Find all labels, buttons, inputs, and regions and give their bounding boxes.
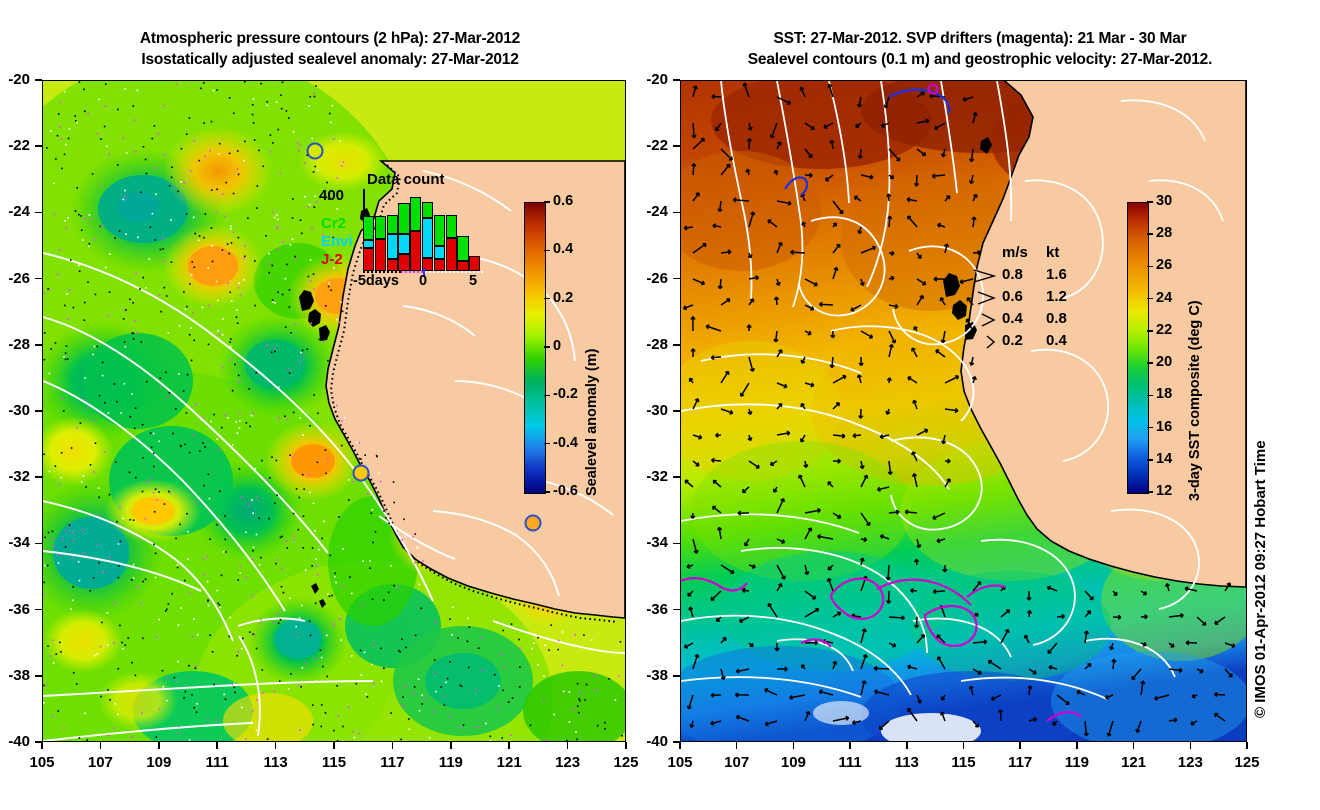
data-count-bar <box>375 216 386 271</box>
colorbar-tick <box>1147 459 1153 461</box>
legend-cr2: Cr2 <box>321 215 346 232</box>
data-count-bar <box>446 215 457 271</box>
y-axis-tick <box>673 543 680 545</box>
colorbar-tick <box>1147 233 1153 235</box>
colorbar-tick <box>1147 201 1153 203</box>
x-axis-label: 125 <box>606 754 646 771</box>
data-count-bar-segment-cr2 <box>375 216 386 240</box>
colorbar-tick-label: 30 <box>1156 193 1172 209</box>
data-count-title: Data count <box>367 171 445 188</box>
data-count-xlabel-end: 5 <box>469 273 477 289</box>
y-axis-label: -26 <box>622 270 668 287</box>
x-axis-label: 111 <box>197 754 237 771</box>
velocity-scale-key: m/s kt 0.81.60.61.20.40.80.20.4 <box>956 244 1086 359</box>
colorbar-tick <box>544 491 550 493</box>
x-axis-label: 117 <box>1000 754 1040 771</box>
y-axis-tick <box>673 609 680 611</box>
velocity-value-ms: 0.8 <box>1002 266 1023 283</box>
data-count-bar <box>434 215 445 271</box>
y-axis-label: -20 <box>0 71 30 88</box>
data-count-bar-segment-envi <box>422 218 433 258</box>
data-count-bar <box>387 215 398 271</box>
x-axis-label: 119 <box>1057 754 1097 771</box>
colorbar-tick <box>544 250 550 252</box>
velocity-key-row: 0.81.6 <box>956 266 1086 287</box>
colorbar-tick <box>1147 330 1153 332</box>
y-axis-label: -38 <box>0 667 30 684</box>
data-count-bar-segment-j2 <box>363 248 374 271</box>
colorbar-tick <box>544 346 550 348</box>
y-axis-tick <box>673 278 680 280</box>
left-title-line1: Atmospheric pressure contours (2 hPa): 2… <box>0 28 660 49</box>
y-axis-tick <box>35 476 42 478</box>
y-axis-label: -32 <box>622 468 668 485</box>
x-axis-label: 119 <box>431 754 471 771</box>
y-axis-label: -26 <box>0 270 30 287</box>
velocity-arrow-icon <box>964 266 1004 286</box>
x-axis-tick <box>793 742 795 749</box>
sst-colorbar-label: 3-day SST composite (deg C) <box>1187 300 1203 501</box>
data-count-bar-segment-j2 <box>387 259 398 271</box>
y-axis-tick <box>673 212 680 214</box>
x-axis-tick <box>849 742 851 749</box>
y-axis-label: -30 <box>622 402 668 419</box>
y-axis-label: -40 <box>0 733 30 750</box>
data-count-bar-segment-envi <box>398 234 409 253</box>
x-axis-tick <box>41 742 43 749</box>
x-axis-label: 111 <box>830 754 870 771</box>
y-axis-label: -20 <box>622 71 668 88</box>
y-axis-tick <box>35 278 42 280</box>
y-axis-tick <box>673 344 680 346</box>
y-axis-tick <box>35 675 42 677</box>
x-axis-label: 105 <box>22 754 62 771</box>
data-count-xlabel-zero: 0 <box>419 273 427 289</box>
colorbar-tick-label: -0.2 <box>553 386 578 402</box>
y-axis-label: -24 <box>622 203 668 220</box>
x-axis-label: 113 <box>887 754 927 771</box>
colorbar-tick-label: 20 <box>1156 354 1172 370</box>
x-axis-tick <box>1190 742 1192 749</box>
x-axis-tick <box>567 742 569 749</box>
x-axis-label: 107 <box>80 754 120 771</box>
data-count-bar-segment-j2 <box>434 259 445 271</box>
legend-j2: J-2 <box>321 251 343 268</box>
colorbar-tick-label: 14 <box>1156 451 1172 467</box>
colorbar-tick <box>1147 266 1153 268</box>
data-count-bar-segment-j2 <box>375 239 386 271</box>
data-count-ymax-label: 400 <box>319 187 344 204</box>
sst-colorbar <box>1127 202 1149 494</box>
colorbar-tick-label: 0.6 <box>553 193 573 209</box>
data-count-bar-segment-cr2 <box>457 236 468 261</box>
velocity-value-ms: 0.4 <box>1002 310 1023 327</box>
velocity-value-kt: 0.8 <box>1046 310 1067 327</box>
x-axis-tick <box>906 742 908 749</box>
data-count-bar <box>363 216 374 271</box>
x-axis-label: 121 <box>489 754 529 771</box>
x-axis-tick <box>1076 742 1078 749</box>
data-count-bar <box>457 236 468 271</box>
colorbar-tick-label: 26 <box>1156 257 1172 273</box>
x-axis-label: 109 <box>139 754 179 771</box>
y-axis-label: -36 <box>622 601 668 618</box>
colorbar-tick-label: 12 <box>1156 483 1172 499</box>
sealevel-colorbar-label: Sealevel anomaly (m) <box>584 349 600 497</box>
data-count-xlabel-start: -5days <box>353 273 399 289</box>
x-axis-tick <box>275 742 277 749</box>
left-title-line2: Isostatically adjusted sealevel anomaly:… <box>0 49 660 70</box>
colorbar-tick-label: 28 <box>1156 225 1172 241</box>
velocity-header-ms: m/s <box>1002 244 1028 261</box>
velocity-header-kt: kt <box>1046 244 1059 261</box>
colorbar-tick <box>1147 395 1153 397</box>
x-axis-tick <box>158 742 160 749</box>
x-axis-tick <box>100 742 102 749</box>
data-count-bar-segment-cr2 <box>398 203 409 234</box>
colorbar-tick <box>544 201 550 203</box>
velocity-arrow-icon <box>964 310 1004 330</box>
x-axis-label: 125 <box>1227 754 1267 771</box>
colorbar-tick-label: -0.6 <box>553 483 578 499</box>
data-count-bar-segment-cr2 <box>363 216 374 241</box>
data-count-bar-segment-cr2 <box>387 215 398 234</box>
data-count-bar-segment-envi <box>434 246 445 258</box>
right-map-canvas <box>681 81 1246 741</box>
data-count-bar-segment-cr2 <box>422 202 433 217</box>
data-count-bar-segment-j2 <box>469 256 480 271</box>
x-axis-tick <box>450 742 452 749</box>
colorbar-tick <box>1147 491 1153 493</box>
y-axis-label: -22 <box>622 137 668 154</box>
velocity-key-row: 0.40.8 <box>956 310 1086 331</box>
colorbar-tick-label: 16 <box>1156 419 1172 435</box>
y-axis-tick <box>673 410 680 412</box>
x-axis-label: 123 <box>1170 754 1210 771</box>
data-count-bar-segment-cr2 <box>446 215 457 239</box>
x-axis-tick <box>1019 742 1021 749</box>
colorbar-tick <box>1147 298 1153 300</box>
y-axis-label: -38 <box>622 667 668 684</box>
data-count-bar-segment-envi <box>387 234 398 259</box>
y-axis-label: -22 <box>0 137 30 154</box>
velocity-value-ms: 0.2 <box>1002 332 1023 349</box>
x-axis-tick <box>216 742 218 749</box>
x-axis-label: 123 <box>548 754 588 771</box>
y-axis-label: -30 <box>0 402 30 419</box>
velocity-key-row: 0.61.2 <box>956 288 1086 309</box>
data-count-bar <box>410 197 421 271</box>
y-axis-tick <box>35 212 42 214</box>
y-axis-tick <box>673 145 680 147</box>
y-axis-tick <box>673 741 680 743</box>
colorbar-tick-label: -0.4 <box>553 435 578 451</box>
y-axis-tick <box>35 609 42 611</box>
colorbar-tick-label: 18 <box>1156 386 1172 402</box>
right-title-line2: Sealevel contours (0.1 m) and geostrophi… <box>640 49 1320 70</box>
data-count-bar-segment-j2 <box>457 261 468 271</box>
colorbar-tick-label: 22 <box>1156 322 1172 338</box>
x-axis-label: 109 <box>773 754 813 771</box>
data-count-bars <box>363 189 481 271</box>
copyright-notice: © IMOS 01-Apr-2012 09:27 Hobart Time <box>1252 440 1269 718</box>
colorbar-tick-label: 0.2 <box>553 290 573 306</box>
y-axis-tick <box>673 675 680 677</box>
colorbar-tick-label: 0 <box>553 338 561 354</box>
colorbar-tick <box>1147 427 1153 429</box>
colorbar-tick <box>1147 362 1153 364</box>
colorbar-tick-label: 0.4 <box>553 241 573 257</box>
velocity-value-ms: 0.6 <box>1002 288 1023 305</box>
y-axis-tick <box>35 543 42 545</box>
colorbar-tick-label: 24 <box>1156 290 1172 306</box>
y-axis-tick <box>35 79 42 81</box>
velocity-key-row: 0.20.4 <box>956 332 1086 353</box>
y-axis-label: -28 <box>622 336 668 353</box>
x-axis-label: 115 <box>314 754 354 771</box>
y-axis-label: -32 <box>0 468 30 485</box>
y-axis-label: -36 <box>0 601 30 618</box>
x-axis-label: 105 <box>660 754 700 771</box>
velocity-value-kt: 1.6 <box>1046 266 1067 283</box>
colorbar-tick <box>544 298 550 300</box>
data-count-bar-segment-j2 <box>410 231 421 271</box>
y-axis-tick <box>35 344 42 346</box>
x-axis-tick <box>736 742 738 749</box>
data-count-bar-segment-cr2 <box>434 215 445 247</box>
data-count-bar-segment-envi <box>363 240 374 248</box>
velocity-arrow-icon <box>964 332 1004 352</box>
right-title-line1: SST: 27-Mar-2012. SVP drifters (magenta)… <box>640 28 1320 49</box>
left-panel-title: Atmospheric pressure contours (2 hPa): 2… <box>0 28 660 70</box>
y-axis-label: -40 <box>622 733 668 750</box>
x-axis-label: 115 <box>944 754 984 771</box>
data-count-bar-segment-j2 <box>398 254 409 271</box>
sealevel-anomaly-colorbar <box>524 202 546 494</box>
velocity-value-kt: 1.2 <box>1046 288 1067 305</box>
colorbar-tick <box>544 395 550 397</box>
data-count-bar-segment-j2 <box>446 238 457 271</box>
x-axis-label: 107 <box>717 754 757 771</box>
x-axis-tick <box>392 742 394 749</box>
x-axis-tick <box>1246 742 1248 749</box>
data-count-bar <box>398 203 409 271</box>
y-axis-label: -34 <box>0 534 30 551</box>
y-axis-tick <box>673 79 680 81</box>
colorbar-tick <box>544 443 550 445</box>
x-axis-label: 121 <box>1114 754 1154 771</box>
y-axis-tick <box>35 741 42 743</box>
y-axis-label: -24 <box>0 203 30 220</box>
sst-map[interactable]: m/s kt 0.81.60.61.20.40.80.20.4 30282624… <box>680 80 1247 742</box>
data-count-bar <box>422 202 433 271</box>
data-count-bar <box>469 256 480 271</box>
y-axis-label: -34 <box>622 534 668 551</box>
y-axis-tick <box>35 145 42 147</box>
x-axis-tick <box>963 742 965 749</box>
velocity-arrow-icon <box>964 288 1004 308</box>
data-count-bar-segment-cr2 <box>410 197 421 231</box>
velocity-value-kt: 0.4 <box>1046 332 1067 349</box>
y-axis-tick <box>673 476 680 478</box>
data-count-inset: Data count 400 Cr2 Envi J-2 -5days 0 5 <box>319 171 494 296</box>
y-axis-label: -28 <box>0 336 30 353</box>
x-axis-tick <box>679 742 681 749</box>
x-axis-label: 113 <box>256 754 296 771</box>
legend-envi: Envi <box>321 233 353 250</box>
sealevel-anomaly-map[interactable]: Data count 400 Cr2 Envi J-2 -5days 0 5 0… <box>42 80 626 742</box>
y-axis-tick <box>35 410 42 412</box>
right-panel-title: SST: 27-Mar-2012. SVP drifters (magenta)… <box>640 28 1320 70</box>
x-axis-tick <box>508 742 510 749</box>
x-axis-tick <box>333 742 335 749</box>
x-axis-label: 117 <box>372 754 412 771</box>
x-axis-tick <box>1133 742 1135 749</box>
